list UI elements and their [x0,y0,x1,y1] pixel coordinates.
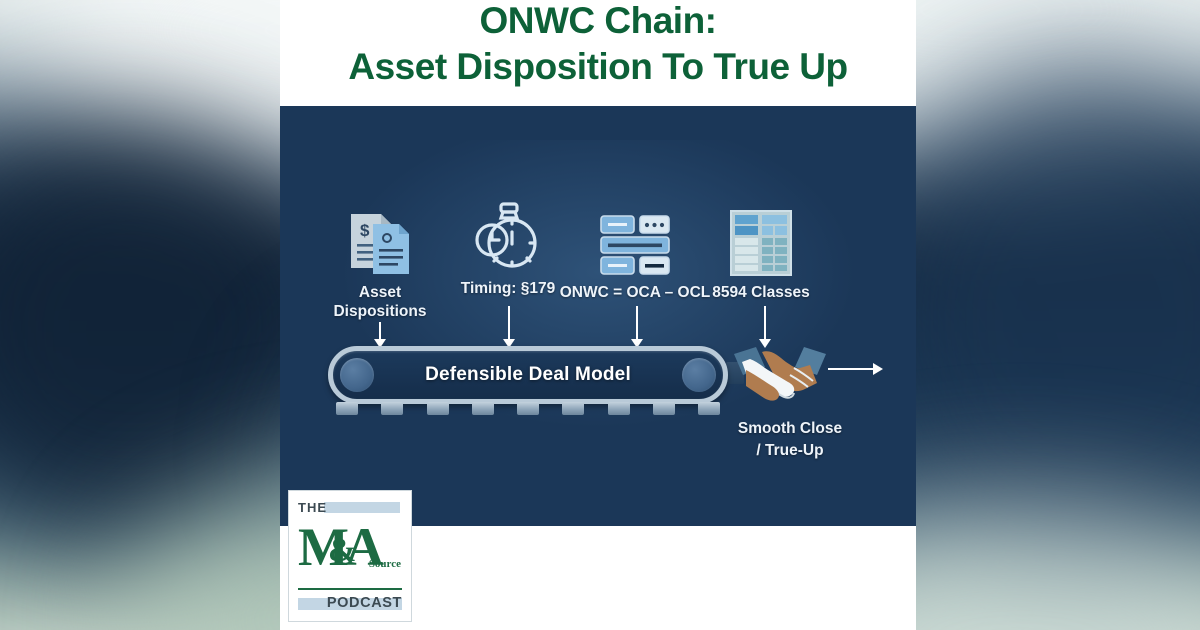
podcast-logo: THE MA & Source PODCAST [288,490,412,622]
step-columns: $ Asset Dispositions [280,106,916,526]
diagram-panel: $ Asset Dispositions [280,106,916,526]
episode-cover-art: ONWC Chain: Asset Disposition To True Up… [0,0,1200,630]
logo-the-row: THE [298,499,402,516]
flow-arrow-down-4 [764,306,766,340]
logo-ma-row: MA & Source [298,520,402,582]
flow-arrow-down-2 [508,306,510,340]
logo-ampersand: & [328,532,356,570]
artwork-card: ONWC Chain: Asset Disposition To True Up… [280,0,916,630]
flow-arrow-right [828,368,874,370]
handshake-icon [732,342,828,408]
flow-arrow-down-1 [379,322,381,340]
conveyor-label: Defensible Deal Model [425,364,631,386]
flow-arrow-down-3 [636,306,638,340]
conveyor-roller-left [340,358,374,392]
title-line-2: Asset Disposition To True Up [348,48,847,85]
step-label: 8594 Classes [686,284,836,303]
conveyor-belt: Defensible Deal Model [328,346,728,404]
conveyor-legs [336,402,720,418]
logo-source-text: Source [369,558,401,570]
svg-text:$: $ [360,221,370,240]
conveyor-roller-right [682,358,716,392]
step-8594-classes: 8594 Classes [686,200,836,303]
spreadsheet-table-icon [686,200,836,278]
logo-divider [298,588,402,590]
logo-podcast-text: PODCAST [298,594,402,613]
title-block: ONWC Chain: Asset Disposition To True Up [280,0,916,106]
logo-the-text: THE [298,499,402,516]
footer-band: THE MA & Source PODCAST David Dejewski [280,526,916,630]
logo-podcast-row: PODCAST [298,594,402,613]
outcome-label: Smooth Close / True-Up [690,418,890,463]
title-line-1: ONWC Chain: [479,2,716,39]
